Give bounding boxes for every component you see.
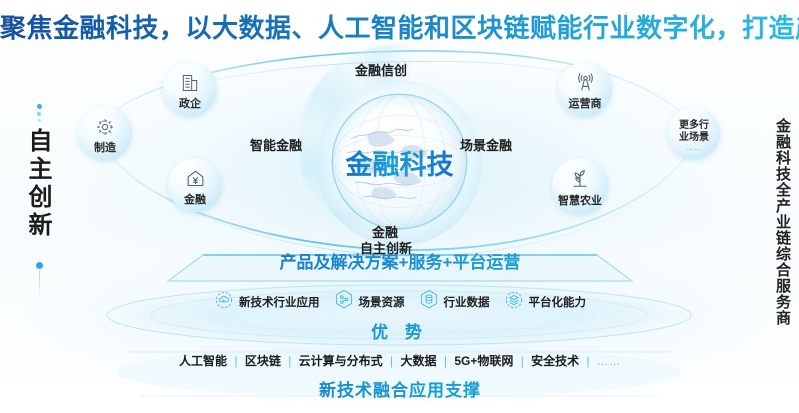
tech-support-title: 新技术融合应用支撑: [120, 376, 680, 401]
node-label: 智慧农业: [552, 192, 608, 208]
offer-band: 产品及解决方案+服务+平台运营: [130, 248, 670, 282]
advantage-label: 场景资源: [359, 294, 405, 310]
tech-support-band: 人工智能 | 区块链 | 云计算与分布式 | 大数据 | 5G+物联网 | 安全…: [120, 346, 680, 398]
node-label: 运营商: [558, 95, 612, 111]
advantage-label: 平台化能力: [529, 294, 587, 310]
industry-node-smart-agriculture[interactable]: 智慧农业: [552, 158, 608, 214]
tech-separator: |: [288, 354, 291, 368]
gear-icon: [78, 117, 132, 137]
tech-item: 安全技术: [531, 354, 579, 368]
house-yuan-icon: [168, 168, 222, 189]
tech-separator: |: [521, 354, 524, 368]
node-label: 金融: [168, 191, 222, 207]
center-label-left: 智能金融: [250, 135, 302, 154]
node-label-line1: 更多行: [668, 120, 720, 131]
advantages-row: 新技术行业应用 场景资源 行业数据: [150, 290, 650, 314]
advantage-item-scene-resource[interactable]: 场景资源: [334, 289, 405, 316]
tech-separator: |: [234, 354, 237, 368]
left-dots-ornament: [34, 104, 44, 125]
industry-node-zhengqi[interactable]: 政企: [163, 62, 217, 116]
database-hex-icon: [419, 289, 439, 316]
globe-title: 金融科技: [333, 143, 466, 182]
tech-item: 大数据: [400, 354, 436, 368]
node-ellipsis: ……: [668, 145, 720, 152]
agriculture-icon: [552, 167, 608, 189]
infographic-canvas: 聚焦金融科技，以大数据、人工智能和区块链赋能行业数字化，打造产业融合新生态: [0, 0, 799, 413]
industry-node-zhizao[interactable]: 制造: [78, 106, 132, 160]
advantage-item-industry-data[interactable]: 行业数据: [419, 289, 490, 316]
central-globe: 金融科技: [333, 95, 466, 228]
right-vertical-caption: 金融科技全产业链综合服务商: [772, 118, 793, 326]
center-label-right: 场景金融: [460, 135, 512, 154]
industry-node-yunyingshang[interactable]: 运营商: [558, 62, 612, 116]
molecule-hex-icon: [334, 289, 354, 316]
tech-item: 区块链: [245, 354, 281, 368]
antenna-icon: [558, 72, 612, 93]
left-dot-tail-ornament: [34, 262, 44, 299]
advantages-title: 优 势: [0, 318, 799, 343]
tech-separator: |: [444, 354, 447, 368]
page-title: 聚焦金融科技，以大数据、人工智能和区块链赋能行业数字化，打造产业融合新生态: [0, 8, 799, 45]
advantage-item-platform-capability[interactable]: 平台化能力: [504, 290, 587, 315]
node-label-line2: 业场景: [668, 132, 720, 143]
advantage-label: 新技术行业应用: [239, 294, 320, 310]
left-vertical-caption: 自主创新: [20, 128, 55, 240]
node-label: 制造: [78, 139, 132, 155]
tech-ellipsis: ……: [597, 356, 621, 368]
tech-items-row: 人工智能 | 区块链 | 云计算与分布式 | 大数据 | 5G+物联网 | 安全…: [120, 352, 680, 369]
industry-node-more-scenarios[interactable]: 更多行 业场景 ……: [668, 107, 720, 159]
industry-node-jinrong[interactable]: 金融: [168, 158, 222, 212]
center-label-top: 金融信创: [355, 60, 407, 79]
tech-item: 5G+物联网: [454, 354, 513, 368]
advantage-item-new-tech[interactable]: 新技术行业应用: [214, 290, 320, 315]
building-icon: [163, 73, 217, 93]
tech-item: 人工智能: [179, 354, 227, 368]
node-label: 政企: [163, 95, 217, 111]
cloud-circle-icon: [214, 290, 234, 315]
offer-band-text: 产品及解决方案+服务+平台运营: [130, 248, 670, 273]
tech-separator: |: [587, 354, 590, 368]
advantage-label: 行业数据: [444, 294, 490, 310]
tech-item: 云计算与分布式: [299, 354, 383, 368]
layers-hex-icon: [504, 290, 524, 315]
tech-separator: |: [390, 354, 393, 368]
